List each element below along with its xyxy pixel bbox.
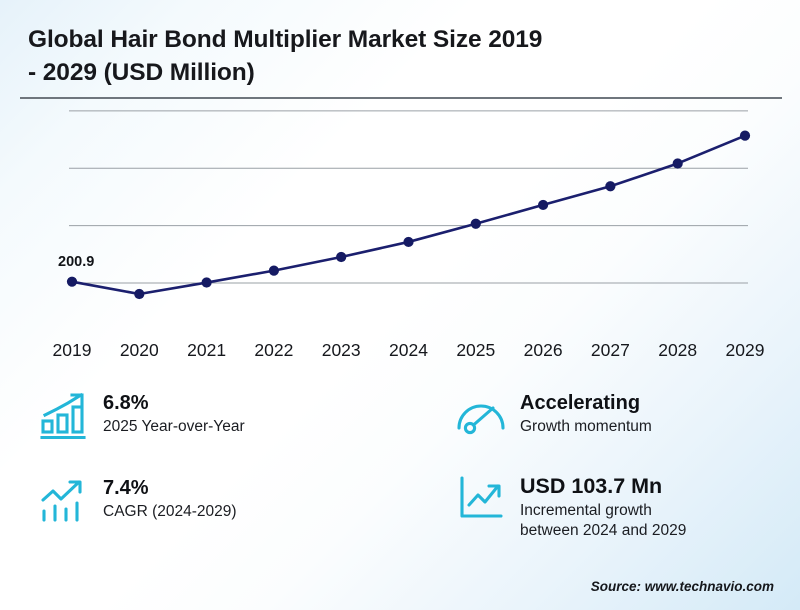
axis-trend-arrow-icon [455,472,507,524]
stat-card-cagr: 7.4% CAGR (2024-2029) [38,475,237,527]
page-title: Global Hair Bond Multiplier Market Size … [28,24,718,89]
chart-data-point [403,237,413,247]
page-title-line-2: - 2029 (USD Million) [28,57,718,90]
stat-value-yoy: 6.8% [103,391,245,415]
stat-value-momentum: Accelerating [520,391,652,415]
header-divider [20,97,782,99]
stats-grid: 6.8% 2025 Year-over-Year Accelerating Gr… [0,382,800,562]
bar-chart-trend-arrow-icon [38,475,90,527]
stat-label-yoy: 2025 Year-over-Year [103,417,245,437]
chart-x-tick-label: 2029 [713,340,777,361]
chart-data-point [269,266,279,276]
stat-text-cagr: 7.4% CAGR (2024-2029) [103,475,237,522]
chart-data-label: 200.9 [58,254,94,270]
chart-gridlines [69,111,748,283]
stat-text-yoy: 6.8% 2025 Year-over-Year [103,390,245,437]
bar-chart-growth-icon [38,390,90,442]
stat-text-incremental: USD 103.7 Mn Incremental growth between … [520,472,686,541]
line-chart-plot [0,108,800,373]
stat-label-incremental: Incremental growth between 2024 and 2029 [520,501,686,541]
page-title-line-1: Global Hair Bond Multiplier Market Size … [28,24,718,57]
chart-data-point [471,219,481,229]
chart-x-tick-label: 2023 [309,340,373,361]
chart-x-tick-label: 2026 [511,340,575,361]
chart-data-point [202,277,212,287]
stat-card-incremental: USD 103.7 Mn Incremental growth between … [455,472,686,541]
stat-value-incremental: USD 103.7 Mn [520,473,686,499]
chart-data-point [538,200,548,210]
chart-x-tick-label: 2019 [40,340,104,361]
speedometer-icon [455,390,507,442]
chart-x-tick-label: 2028 [646,340,710,361]
chart-data-point [740,131,750,141]
chart-data-point [67,277,77,287]
chart-x-tick-label: 2021 [175,340,239,361]
stat-label-cagr: CAGR (2024-2029) [103,502,237,522]
stat-card-yoy: 6.8% 2025 Year-over-Year [38,390,245,442]
chart-x-tick-label: 2024 [377,340,441,361]
line-chart: 2019202020212022202320242025202620272028… [0,108,800,373]
source-attribution: Source: www.technavio.com [591,579,774,594]
infographic-canvas: Global Hair Bond Multiplier Market Size … [0,0,800,610]
chart-x-tick-label: 2025 [444,340,508,361]
chart-data-point [134,289,144,299]
chart-x-tick-label: 2022 [242,340,306,361]
chart-data-point [336,252,346,262]
stat-value-cagr: 7.4% [103,476,237,500]
stat-text-momentum: Accelerating Growth momentum [520,390,652,437]
chart-x-tick-label: 2020 [107,340,171,361]
stat-label-momentum: Growth momentum [520,417,652,437]
chart-series-line [72,136,745,294]
chart-data-markers [67,131,750,300]
chart-data-point [673,158,683,168]
stat-card-momentum: Accelerating Growth momentum [455,390,652,442]
chart-x-tick-label: 2027 [578,340,642,361]
chart-data-point [605,181,615,191]
